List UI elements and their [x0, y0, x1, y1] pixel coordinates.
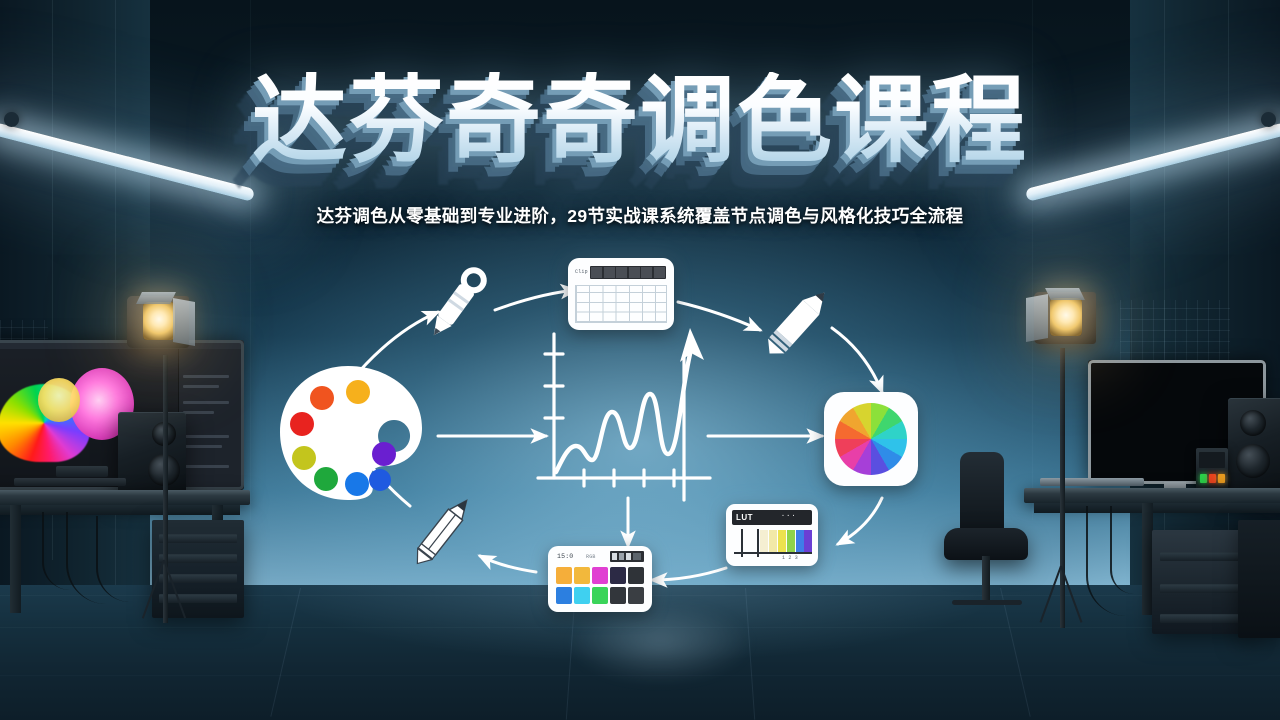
palette-dot	[372, 442, 396, 466]
color-wheel-disc	[835, 403, 907, 475]
keyboard-right[interactable]	[1040, 478, 1144, 486]
studio-speaker-left	[118, 412, 186, 494]
keyboard-left[interactable]	[14, 478, 126, 486]
subtitle-block: 达芬调色从零基础到专业进阶，29节实战课系统覆盖节点调色与风格化技巧全流程	[0, 203, 1280, 228]
studio-course-banner: 达芬奇奇调色课程 达芬调色从零基础到专业进阶，29节实战课系统覆盖节点调色与风格…	[0, 0, 1280, 720]
light-stand-right	[1060, 348, 1065, 628]
stylus-icon	[428, 268, 500, 350]
swatch-header-bar	[610, 551, 644, 562]
lut-label: LUT	[736, 513, 753, 522]
led-red	[1209, 474, 1216, 483]
title-block: 达芬奇奇调色课程	[0, 72, 1280, 172]
studio-speaker-right	[1228, 398, 1280, 494]
grid-header-bar	[590, 266, 666, 279]
light-stand-left	[163, 355, 168, 623]
swatch	[628, 567, 644, 584]
barn-door	[136, 292, 176, 304]
swatch	[556, 567, 572, 584]
desk-accessory	[56, 466, 108, 477]
lut-bar	[804, 530, 812, 552]
arrow-wheel-to-lut	[838, 498, 882, 544]
palette-dot	[292, 446, 316, 470]
lut-bar	[796, 530, 804, 552]
speaker-woofer	[1236, 444, 1270, 478]
grid-cells	[575, 285, 667, 323]
fresnel-lens-right	[1050, 298, 1082, 336]
desk-edge-left	[0, 505, 240, 515]
lut-x-axis	[734, 552, 812, 554]
lut-bar	[787, 530, 795, 552]
curve-chart-icon	[532, 320, 718, 510]
color-swatches-icon: 15:0 RGB	[548, 546, 652, 612]
swatch	[574, 587, 590, 604]
color-palette-icon	[276, 362, 426, 502]
desk-left	[0, 490, 250, 505]
desk-leg	[10, 505, 21, 613]
lut-y-axis	[757, 529, 759, 557]
palette-dot	[346, 380, 370, 404]
lut-header-dots: · · ·	[782, 513, 795, 520]
barn-door	[1045, 288, 1085, 300]
swatch	[592, 567, 608, 584]
arrow-lut-to-swatches	[652, 568, 726, 580]
led-amber	[1218, 474, 1225, 483]
color-wheel-icon	[824, 392, 918, 486]
swatch	[628, 587, 644, 604]
pencil-icon	[754, 280, 840, 366]
swatch	[592, 587, 608, 604]
lut-axis-labels: 1 2 3	[782, 555, 798, 561]
fresnel-lens-left	[143, 302, 175, 340]
swatch	[610, 587, 626, 604]
desk-edge-right	[1034, 503, 1280, 513]
pen-icon	[400, 490, 484, 574]
control-panel-right[interactable]	[1196, 448, 1228, 492]
speaker-tweeter	[1240, 410, 1266, 436]
swatch-readout-left: 15:0	[557, 553, 573, 560]
arrow-stylus-to-grid	[495, 290, 576, 310]
palette-dot	[290, 412, 314, 436]
drawer-cabinet-right	[1152, 530, 1252, 634]
palette-dot	[314, 467, 338, 491]
lut-bar	[760, 530, 768, 552]
palette-dot	[345, 472, 369, 496]
barn-door	[173, 298, 195, 346]
lut-panel-icon: LUT · · · 1 2 3	[726, 504, 818, 566]
lut-bar	[769, 530, 777, 552]
page-title: 达芬奇奇调色课程	[252, 72, 1028, 172]
page-subtitle: 达芬调色从零基础到专业进阶，29节实战课系统覆盖节点调色与风格化技巧全流程	[317, 203, 964, 228]
barn-door	[1026, 294, 1048, 342]
grid-tab-label: Clip	[575, 269, 588, 275]
palette-dot	[310, 386, 334, 410]
arrow-swatches-to-pen	[480, 556, 536, 572]
workflow-diagram: Clip	[260, 250, 1020, 640]
led-green	[1200, 474, 1207, 483]
lut-y-axis	[741, 529, 743, 557]
swatch-readout-mid: RGB	[586, 554, 596, 560]
lut-bar	[778, 530, 786, 552]
swatch	[610, 567, 626, 584]
swatch	[574, 567, 590, 584]
swatch	[556, 587, 572, 604]
equipment-rack-right	[1238, 520, 1280, 638]
palette-dot	[369, 469, 391, 491]
